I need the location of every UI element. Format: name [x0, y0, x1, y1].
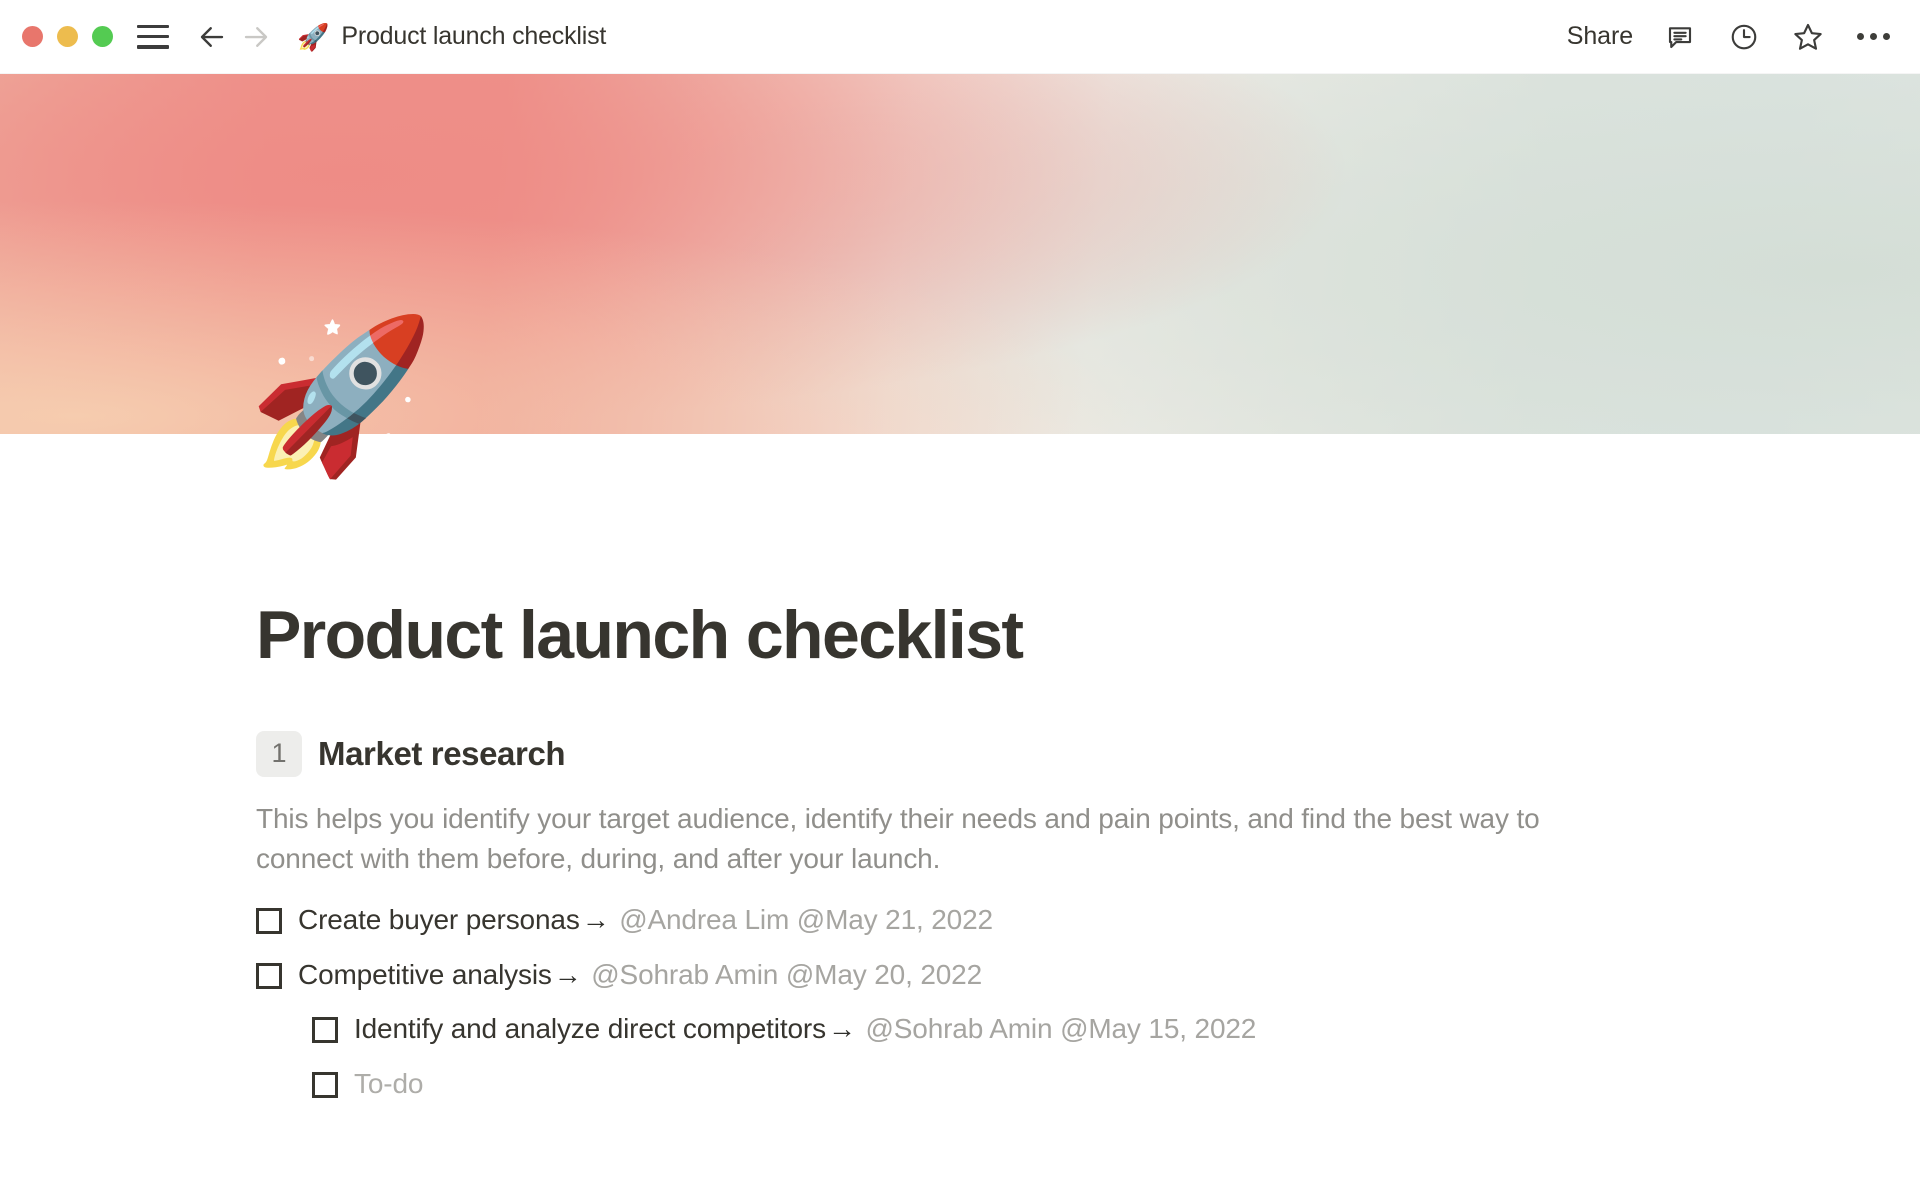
rocket-icon: 🚀	[297, 24, 329, 50]
page-body: 🚀 Product launch checklist 1 Market rese…	[0, 434, 1920, 1105]
todo-checkbox[interactable]	[312, 1072, 338, 1098]
todo-item-nested-empty: To-do	[312, 1064, 1700, 1105]
close-window-button[interactable]	[22, 26, 43, 47]
hamburger-line	[137, 25, 169, 29]
todo-label: Create buyer personas	[298, 904, 580, 935]
section-market-research: 1 Market research This helps you identif…	[256, 731, 1700, 1105]
section-number-badge: 1	[256, 731, 302, 777]
todo-assignee-mention[interactable]: @Sohrab Amin	[865, 1013, 1052, 1044]
clock-history-icon[interactable]	[1727, 20, 1761, 54]
breadcrumb[interactable]: 🚀 Product launch checklist	[297, 22, 606, 51]
section-paragraph[interactable]: This helps you identify your target audi…	[256, 799, 1611, 879]
star-icon[interactable]	[1791, 20, 1825, 54]
maximize-window-button[interactable]	[92, 26, 113, 47]
arrow-right-glyph-icon: →	[826, 1013, 858, 1044]
hamburger-icon[interactable]	[137, 25, 169, 49]
todo-label: Identify and analyze direct competitors	[354, 1013, 826, 1044]
todo-date-mention[interactable]: @May 15, 2022	[1060, 1013, 1256, 1044]
todo-label-row[interactable]: Competitive analysis→ @Sohrab Amin @May …	[298, 955, 982, 996]
page-title[interactable]: Product launch checklist	[256, 598, 1700, 673]
arrow-left-icon[interactable]	[195, 20, 229, 54]
todo-assignee-mention[interactable]: @Andrea Lim	[619, 904, 789, 935]
todo-label-row[interactable]: Identify and analyze direct competitors→…	[354, 1009, 1256, 1050]
todo-date-mention[interactable]: @May 21, 2022	[797, 904, 993, 935]
dot	[1870, 33, 1877, 40]
arrow-right-icon[interactable]	[239, 20, 273, 54]
todo-label: Competitive analysis	[298, 959, 552, 990]
window-titlebar: 🚀 Product launch checklist Share	[0, 0, 1920, 74]
todo-checkbox[interactable]	[256, 963, 282, 989]
todo-item: Create buyer personas→ @Andrea Lim @May …	[256, 900, 1700, 941]
breadcrumb-title[interactable]: Product launch checklist	[341, 22, 606, 51]
share-button[interactable]: Share	[1567, 22, 1633, 51]
comment-bubble-icon[interactable]	[1663, 20, 1697, 54]
todo-placeholder-label[interactable]: To-do	[354, 1064, 423, 1105]
dot	[1883, 33, 1890, 40]
page-icon-rocket-icon[interactable]: 🚀	[248, 320, 435, 470]
todo-checkbox[interactable]	[312, 1017, 338, 1043]
todo-label-row[interactable]: Create buyer personas→ @Andrea Lim @May …	[298, 900, 993, 941]
todo-date-mention[interactable]: @May 20, 2022	[786, 959, 982, 990]
todo-item-nested: Identify and analyze direct competitors→…	[312, 1009, 1700, 1050]
section-heading-text[interactable]: Market research	[318, 735, 565, 773]
titlebar-actions: Share	[1567, 20, 1892, 54]
arrow-right-glyph-icon: →	[580, 904, 612, 935]
todo-item: Competitive analysis→ @Sohrab Amin @May …	[256, 955, 1700, 996]
more-horizontal-icon[interactable]	[1855, 27, 1892, 46]
todo-checkbox[interactable]	[256, 908, 282, 934]
dot	[1857, 33, 1864, 40]
traffic-light-group	[22, 26, 113, 47]
hamburger-line	[137, 45, 169, 49]
arrow-right-glyph-icon: →	[552, 959, 584, 990]
hamburger-line	[137, 35, 169, 39]
minimize-window-button[interactable]	[57, 26, 78, 47]
section-heading-row: 1 Market research	[256, 731, 1700, 777]
todo-assignee-mention[interactable]: @Sohrab Amin	[591, 959, 778, 990]
